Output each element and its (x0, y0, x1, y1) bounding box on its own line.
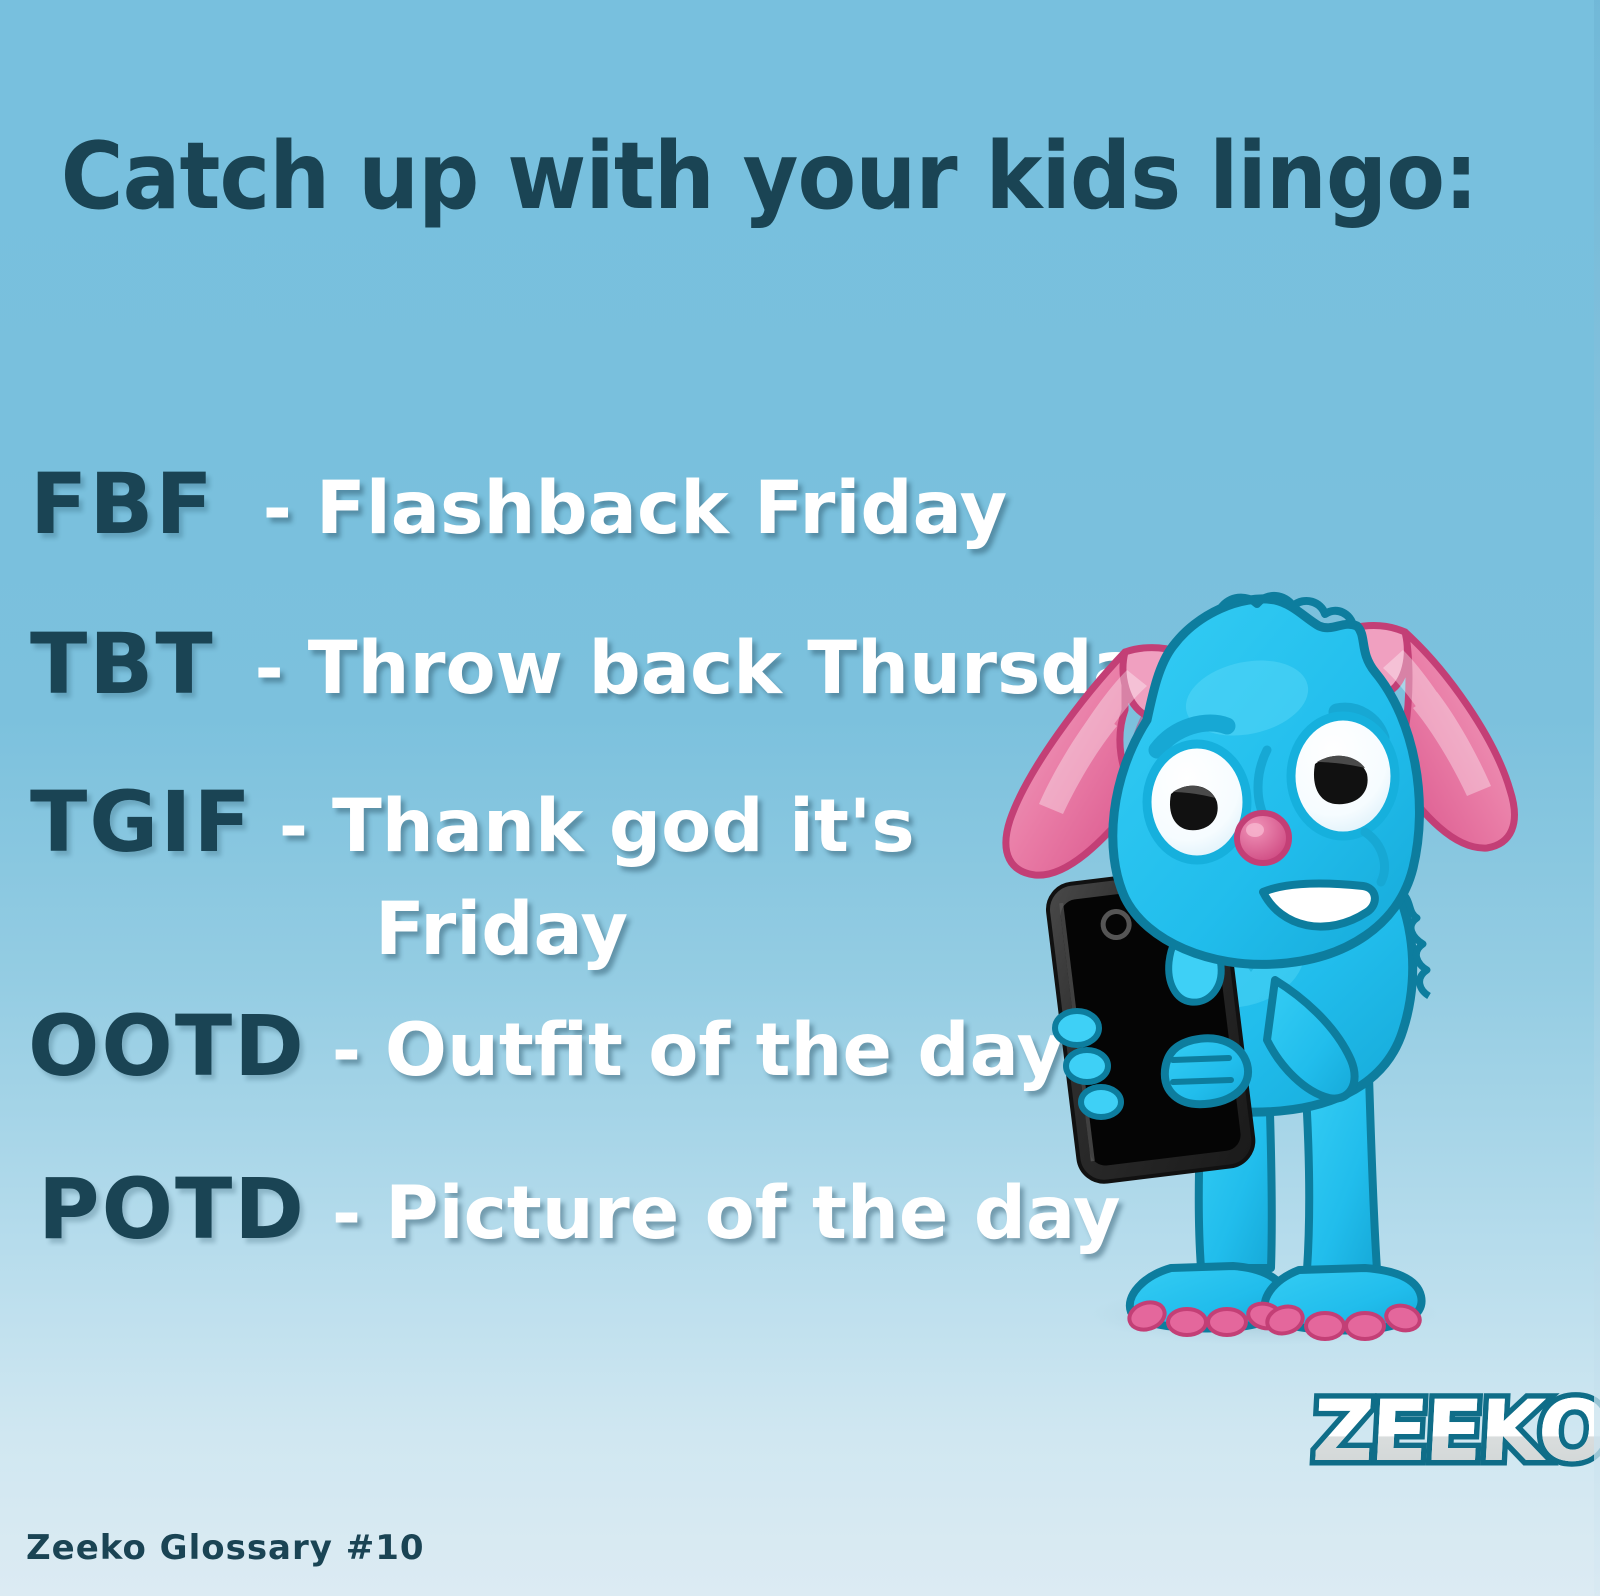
definition-continuation: Friday (375, 887, 628, 972)
footer-caption: Zeeko Glossary #10 (26, 1528, 425, 1568)
zeeko-logo-outline: ZEEKO (1310, 1382, 1600, 1480)
list-item: POTD - Picture of the day (38, 1160, 1121, 1258)
monster-hand-right (1165, 1038, 1248, 1104)
list-item: TGIF - Thank god it's (30, 773, 915, 871)
acronym-label: FBF (30, 455, 215, 553)
definition-label: Thank god it's (332, 784, 915, 869)
acronym-label: OOTD (28, 997, 306, 1095)
acronym-label: POTD (38, 1160, 306, 1258)
separator-dash: - (263, 468, 292, 550)
poster-canvas: Catch up with your kids lingo: FBF - Fla… (0, 0, 1600, 1596)
acronym-label: TGIF (30, 773, 253, 871)
definition-label: Outfit of the day (385, 1008, 1064, 1093)
eye-right (1291, 716, 1395, 836)
separator-dash: - (255, 628, 284, 710)
separator-dash: - (332, 1173, 361, 1255)
footer-divider (310, 1497, 1600, 1521)
list-item: OOTD - Outfit of the day (28, 997, 1064, 1095)
phone-camera-icon (1102, 910, 1131, 939)
eye-left (1147, 744, 1247, 860)
nose (1237, 813, 1289, 863)
definition-label: Flashback Friday (316, 466, 1007, 551)
definition-label-line2: Friday (375, 887, 628, 972)
list-item: FBF - Flashback Friday (30, 455, 1007, 553)
zeeko-monster-mascot (975, 420, 1535, 1350)
edge-strip (1594, 0, 1600, 1596)
page-title: Catch up with your kids lingo: (61, 122, 1459, 230)
separator-dash: - (332, 1010, 361, 1092)
separator-dash: - (279, 786, 308, 868)
acronym-label: TBT (30, 615, 215, 713)
